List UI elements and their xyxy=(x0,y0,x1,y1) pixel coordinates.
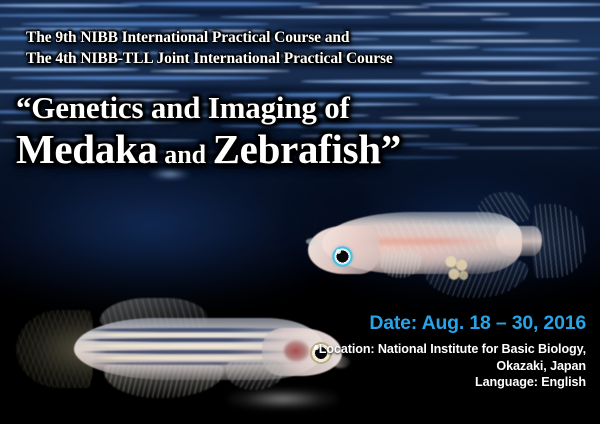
event-details: Location: National Institute for Basic B… xyxy=(0,341,586,391)
medaka-eye xyxy=(332,246,353,267)
medaka-fish xyxy=(300,178,590,308)
foreground-blur-blob xyxy=(228,388,338,410)
location-line-2: Okazaki, Japan xyxy=(0,358,586,375)
title-conjunction: and xyxy=(158,140,213,169)
poster-canvas: The 9th NIBB International Practical Cou… xyxy=(0,0,600,424)
course-header: The 9th NIBB International Practical Cou… xyxy=(26,27,456,69)
location-line-1: Location: National Institute for Basic B… xyxy=(0,341,586,358)
course-header-line-1: The 9th NIBB International Practical Cou… xyxy=(26,27,456,48)
medaka-mouth xyxy=(306,238,322,245)
event-date: Date: Aug. 18 – 30, 2016 xyxy=(0,312,586,335)
title-medaka: Medaka xyxy=(16,126,158,172)
medaka-egg-cluster xyxy=(442,252,472,282)
medaka-scales xyxy=(358,220,508,254)
title-line-1: “Genetics and Imaging of xyxy=(16,90,486,126)
course-header-line-2: The 4th NIBB-TLL Joint International Pra… xyxy=(26,48,456,69)
title-line-2: Medaka and Zebrafish” xyxy=(16,126,486,178)
title-zebrafish: Zebrafish” xyxy=(213,126,401,172)
medaka-pectoral-fin xyxy=(380,252,422,278)
medaka-eye-highlight xyxy=(336,249,341,254)
language-line: Language: English xyxy=(0,374,586,391)
poster-title: “Genetics and Imaging of Medaka and Zebr… xyxy=(16,90,486,178)
